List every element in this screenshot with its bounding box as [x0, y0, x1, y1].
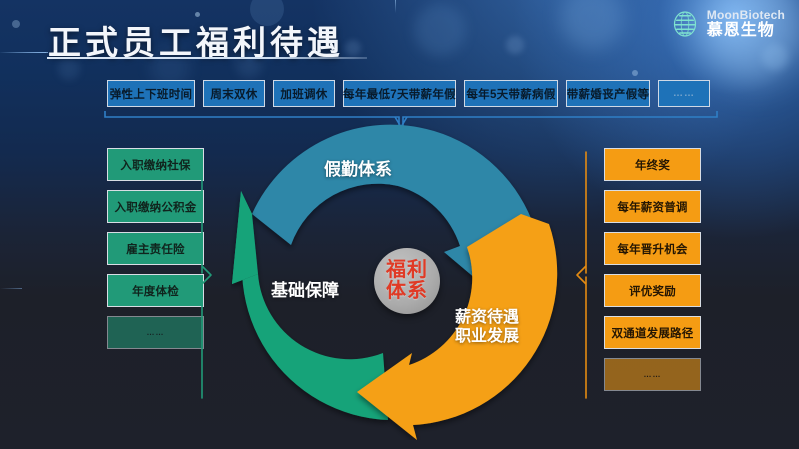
pill-label: …… [147, 328, 165, 337]
pill-excellence-award[interactable]: 评优奖励 [604, 274, 701, 307]
pill-social-insurance[interactable]: 入职缴纳社保 [107, 148, 204, 181]
pill-more-left[interactable]: …… [107, 316, 204, 349]
chip-label: 弹性上下班时间 [110, 86, 193, 102]
segment-label-pay-career: 薪资待遇 职业发展 [455, 309, 519, 347]
segment-basic-guarantee[interactable] [232, 191, 388, 420]
moon-globe-icon [670, 9, 700, 39]
pill-label: 入职缴纳公积金 [115, 199, 197, 215]
chip-annual-leave[interactable]: 每年最低7天带薪年假 [343, 80, 456, 107]
chip-label: 带薪婚丧产假等 [567, 86, 650, 102]
pill-housing-fund[interactable]: 入职缴纳公积金 [107, 190, 204, 223]
pill-annual-promotion[interactable]: 每年晋升机会 [604, 232, 701, 265]
pill-label: 年终奖 [635, 157, 670, 173]
pill-year-end-bonus[interactable]: 年终奖 [604, 148, 701, 181]
pill-label: 雇主责任险 [126, 241, 185, 257]
slide-canvas: 正式员工福利待遇 MoonBiotech 慕恩生物 弹性上下班时间 周末双休 加… [0, 0, 799, 449]
pill-more-right[interactable]: …… [604, 358, 701, 391]
pill-employer-liability-insurance[interactable]: 雇主责任险 [107, 232, 204, 265]
chip-weekend-off[interactable]: 周末双休 [203, 80, 265, 107]
pill-label: …… [644, 370, 662, 379]
chip-overtime-leave[interactable]: 加班调休 [273, 80, 335, 107]
brand-logo: MoonBiotech 慕恩生物 [670, 9, 785, 39]
title-underline [47, 57, 367, 59]
chip-label: 周末双休 [210, 86, 257, 102]
pill-label: 每年薪资普调 [617, 199, 687, 215]
chip-marriage-maternity-leave[interactable]: 带薪婚丧产假等 [566, 80, 650, 107]
pill-label: 入职缴纳社保 [120, 157, 190, 173]
basic-guarantee-list: 入职缴纳社保 入职缴纳公积金 雇主责任险 年度体检 …… [107, 148, 204, 349]
chip-label: …… [673, 88, 695, 99]
left-bracket-connector [199, 150, 213, 400]
pill-dual-career-track[interactable]: 双通道发展路径 [604, 316, 701, 349]
pill-label: 年度体检 [132, 283, 179, 299]
hub-line-1: 福利 [386, 260, 428, 281]
chip-label: 加班调休 [280, 86, 327, 102]
chip-sick-leave[interactable]: 每年5天带薪病假 [464, 80, 558, 107]
logo-text-cn: 慕恩生物 [707, 23, 785, 39]
segment-label-basic-guarantee: 基础保障 [271, 281, 339, 301]
segment-label-line-1: 薪资待遇 [455, 309, 519, 328]
center-hub: 福利 体系 [374, 248, 440, 314]
pill-label: 每年晋升机会 [617, 241, 687, 257]
chip-more[interactable]: …… [658, 80, 710, 107]
hub-line-2: 体系 [386, 281, 428, 302]
pill-label: 双通道发展路径 [612, 325, 694, 341]
pay-career-list: 年终奖 每年薪资普调 每年晋升机会 评优奖励 双通道发展路径 …… [604, 148, 701, 391]
pill-annual-physical[interactable]: 年度体检 [107, 274, 204, 307]
chip-label: 每年最低7天带薪年假 [343, 86, 456, 102]
title-left-accent-line [0, 52, 48, 53]
right-bracket-connector [575, 150, 589, 400]
segment-label-line-2: 职业发展 [455, 328, 519, 347]
pill-annual-raise[interactable]: 每年薪资普调 [604, 190, 701, 223]
logo-text-en: MoonBiotech [707, 9, 785, 21]
pill-label: 评优奖励 [629, 283, 676, 299]
segment-label-attendance: 假勤体系 [324, 160, 392, 180]
chip-flex-hours[interactable]: 弹性上下班时间 [107, 80, 195, 107]
attendance-chip-row: 弹性上下班时间 周末双休 加班调休 每年最低7天带薪年假 每年5天带薪病假 带薪… [107, 80, 710, 107]
chip-label: 每年5天带薪病假 [466, 86, 555, 102]
